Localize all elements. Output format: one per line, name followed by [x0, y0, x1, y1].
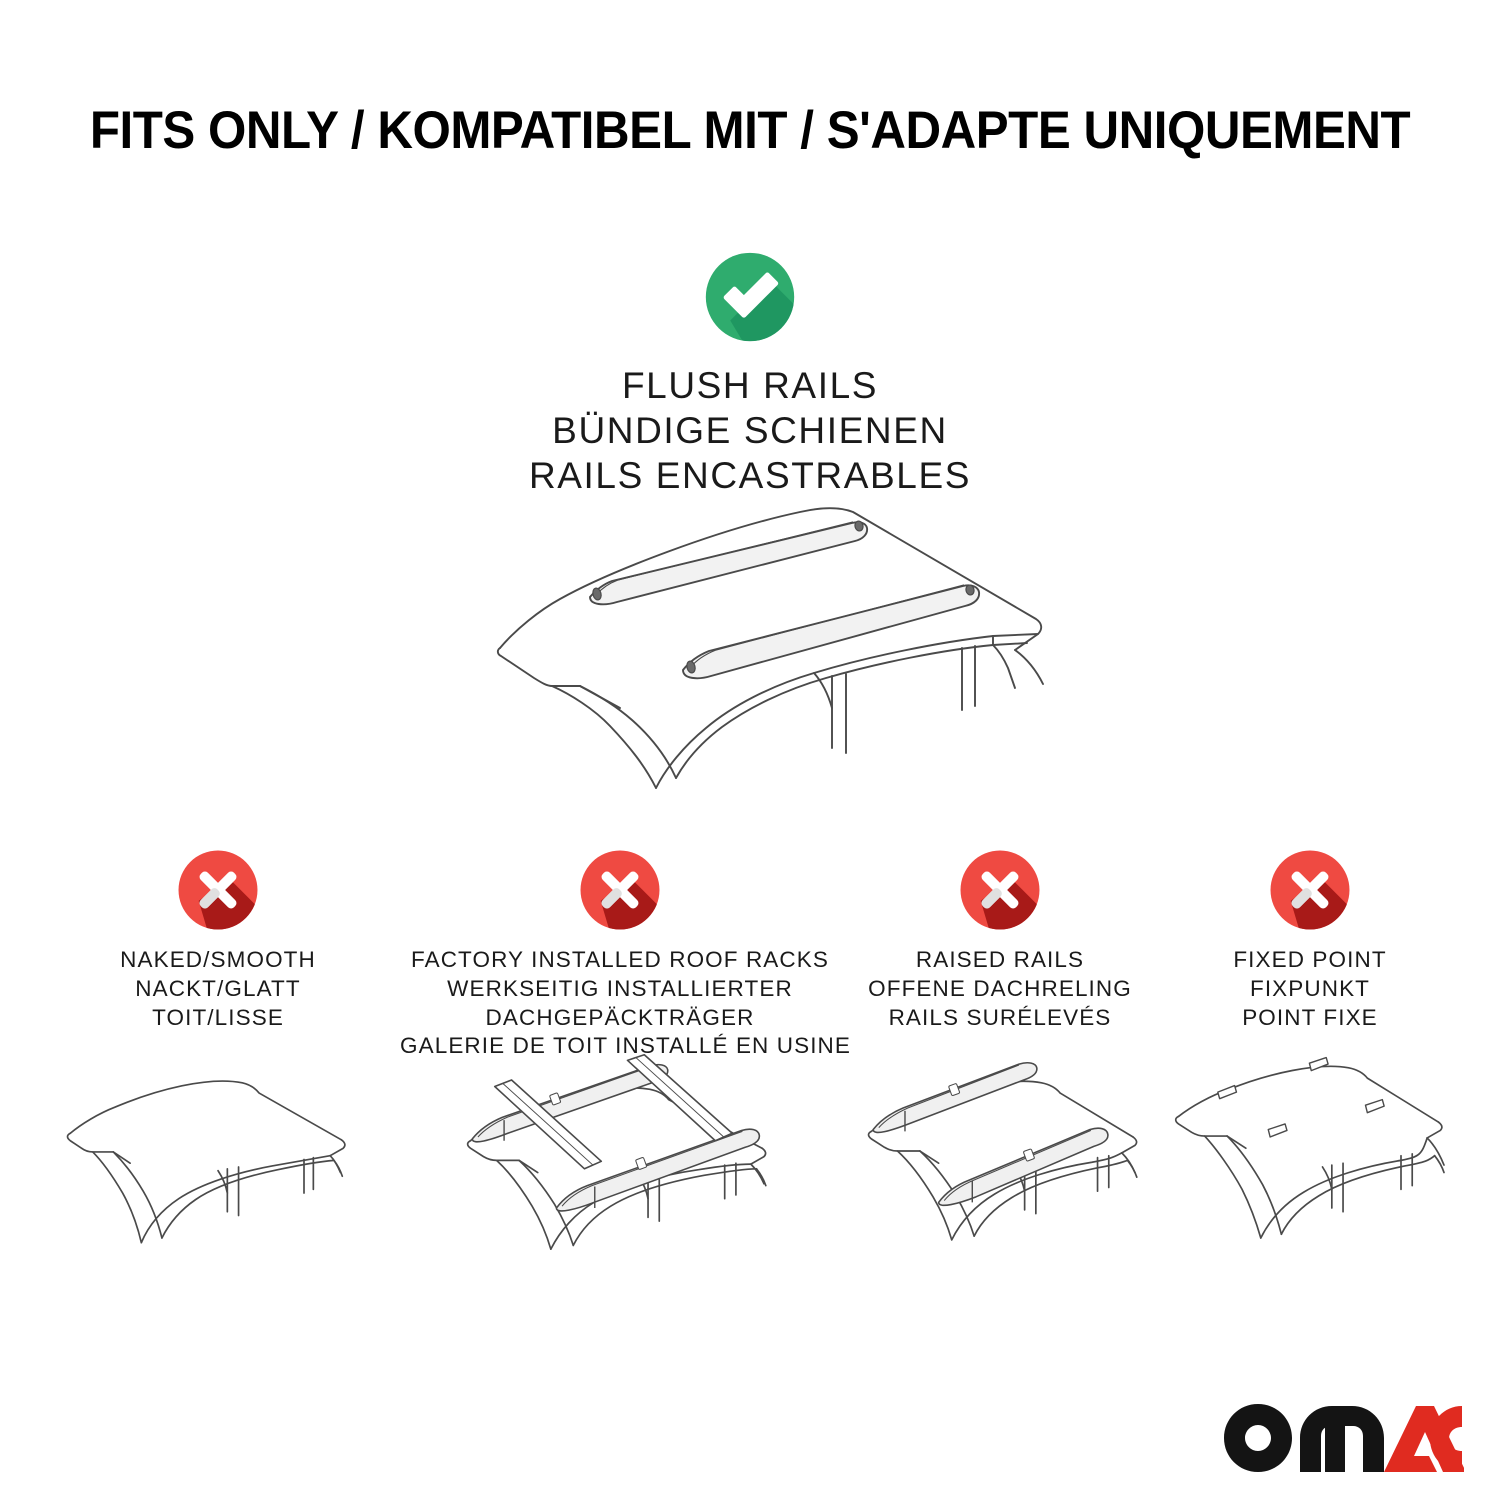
compatibility-infographic: FITS ONLY / KOMPATIBEL MIT / S'ADAPTE UN… — [0, 0, 1500, 1500]
label-de: FIXPUNKT — [1160, 975, 1460, 1004]
label-de-2: DACHGEPÄCKTRÄGER — [400, 1004, 840, 1033]
omac-logo — [1224, 1398, 1464, 1476]
label-de: OFFENE DACHRELING — [840, 975, 1160, 1004]
label-en: FACTORY INSTALLED ROOF RACKS — [400, 946, 840, 975]
incompatible-option-naked: NAKED/SMOOTH NACKT/GLATT TOIT/LISSE — [58, 848, 378, 1032]
incompatible-labels: FACTORY INSTALLED ROOF RACKS WERKSEITIG … — [400, 946, 840, 1061]
label-en: FIXED POINT — [1160, 946, 1460, 975]
incompatible-labels: RAISED RAILS OFFENE DACHRELING RAILS SUR… — [840, 946, 1160, 1032]
incompatible-option-raised-rails: RAISED RAILS OFFENE DACHRELING RAILS SUR… — [840, 848, 1160, 1032]
cross-circle-icon — [1268, 848, 1352, 932]
incompatible-section: NAKED/SMOOTH NACKT/GLATT TOIT/LISSE — [0, 848, 1500, 1268]
label-fr: POINT FIXE — [1160, 1004, 1460, 1033]
car-roof-naked-illustration — [58, 1051, 378, 1266]
compatible-label-de: BÜNDIGE SCHIENEN — [0, 408, 1500, 453]
label-fr: TOIT/LISSE — [58, 1004, 378, 1033]
compatible-labels: FLUSH RAILS BÜNDIGE SCHIENEN RAILS ENCAS… — [0, 363, 1500, 498]
incompatible-labels: FIXED POINT FIXPUNKT POINT FIXE — [1160, 946, 1460, 1032]
incompatible-labels: NAKED/SMOOTH NACKT/GLATT TOIT/LISSE — [58, 946, 378, 1032]
car-roof-flush-rails-illustration — [470, 498, 1050, 798]
cross-circle-icon — [176, 848, 260, 932]
incompatible-option-factory-racks: FACTORY INSTALLED ROOF RACKS WERKSEITIG … — [400, 848, 840, 1061]
cross-circle-icon — [578, 848, 662, 932]
label-fr: RAILS SURÉLEVÉS — [840, 1004, 1160, 1033]
incompatible-option-fixed-point: FIXED POINT FIXPUNKT POINT FIXE — [1160, 848, 1460, 1032]
label-en: NAKED/SMOOTH — [58, 946, 378, 975]
cross-circle-icon — [958, 848, 1042, 932]
car-roof-fixed-point-illustration — [1160, 1051, 1460, 1266]
page-title: FITS ONLY / KOMPATIBEL MIT / S'ADAPTE UN… — [53, 103, 1448, 159]
compatible-label-en: FLUSH RAILS — [0, 363, 1500, 408]
compatible-label-fr: RAILS ENCASTRABLES — [0, 453, 1500, 498]
header: FITS ONLY / KOMPATIBEL MIT / S'ADAPTE UN… — [0, 103, 1500, 159]
compatible-section: FLUSH RAILS BÜNDIGE SCHIENEN RAILS ENCAS… — [0, 250, 1500, 498]
car-roof-factory-racks-illustration — [400, 1051, 840, 1266]
omac-logo-mark — [1224, 1400, 1464, 1474]
car-roof-raised-rails-illustration — [840, 1051, 1160, 1266]
label-de: NACKT/GLATT — [58, 975, 378, 1004]
label-de-1: WERKSEITIG INSTALLIERTER — [400, 975, 840, 1004]
check-circle-icon — [703, 250, 797, 344]
label-en: RAISED RAILS — [840, 946, 1160, 975]
